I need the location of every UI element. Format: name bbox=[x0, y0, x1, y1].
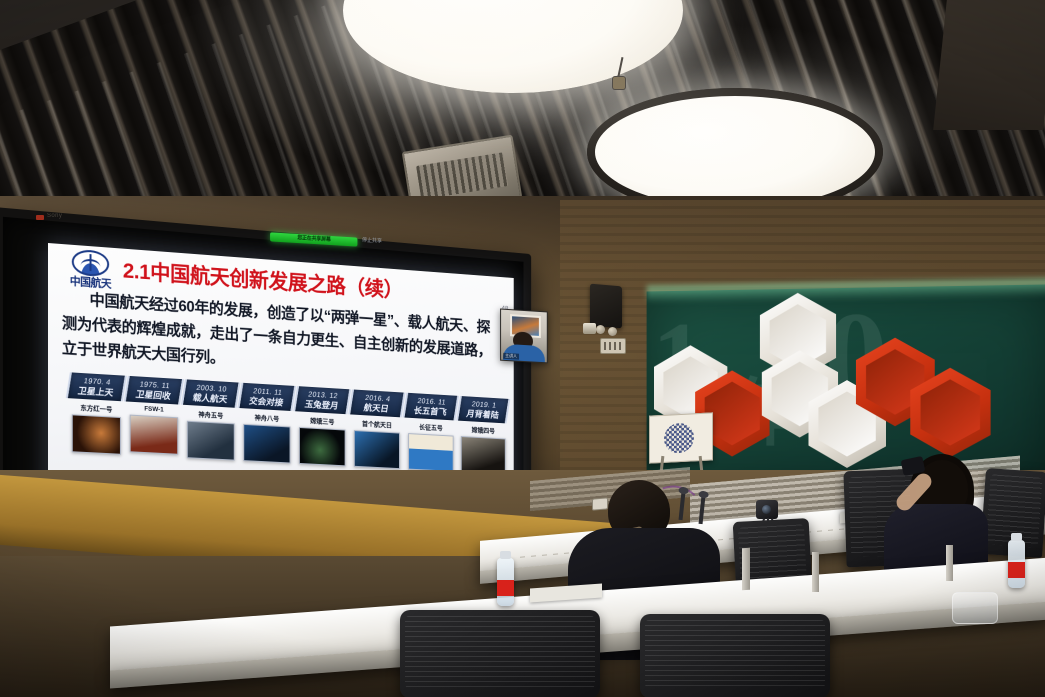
timeline-item: 1970. 4卫星上天 东方红一号 bbox=[68, 372, 125, 459]
timeline-item: 1975. 11卫星回收 FSW-1 bbox=[126, 376, 182, 462]
wall-outlet-plate[interactable] bbox=[600, 338, 626, 354]
timeline-name: 卫星上天 bbox=[68, 385, 123, 399]
timeline-name: 航天日 bbox=[350, 402, 401, 415]
stop-share-button[interactable]: 停止共享 bbox=[362, 236, 382, 244]
drinking-glass bbox=[952, 592, 998, 624]
desk-leg bbox=[946, 545, 953, 581]
timeline-item: 2016. 4航天日 首个航天日 bbox=[350, 389, 403, 473]
upper-right-wall bbox=[933, 0, 1045, 130]
bottle-cap bbox=[500, 551, 511, 559]
timeline-sub: 首个航天日 bbox=[350, 417, 403, 430]
timeline-sub: 长征五号 bbox=[405, 420, 458, 433]
camera-icon bbox=[756, 500, 778, 519]
office-chair bbox=[640, 614, 830, 697]
timeline-name: 月背着陆 bbox=[458, 408, 506, 421]
timeline-item: 2011. 11交会对接 神舟八号 bbox=[239, 383, 294, 468]
timeline-image bbox=[299, 427, 346, 466]
timeline-item: 2013. 12玉兔登月 嫦娥三号 bbox=[295, 386, 349, 470]
timeline-sub: 嫦娥四号 bbox=[458, 423, 508, 435]
timeline-sub: 东方红一号 bbox=[68, 401, 125, 414]
wall-speaker-icon bbox=[590, 284, 622, 329]
qr-poster bbox=[649, 412, 713, 463]
timeline-image bbox=[354, 430, 400, 469]
bottle-cap bbox=[1011, 533, 1022, 541]
qr-code-icon bbox=[664, 422, 694, 454]
timeline-image bbox=[408, 433, 453, 472]
display-brand-label: Sony bbox=[47, 213, 62, 219]
pip-name-label: 主讲人 bbox=[503, 353, 519, 360]
timeline-image bbox=[130, 415, 178, 455]
timeline-sub: 嫦娥三号 bbox=[295, 414, 349, 427]
bottle-label bbox=[497, 580, 514, 596]
timeline-image bbox=[461, 436, 506, 475]
timeline-item: 2016. 11长五首飞 长征五号 bbox=[405, 393, 458, 476]
timeline-item: 2019. 1月背着陆 嫦娥四号 bbox=[458, 396, 508, 479]
bottle-label bbox=[1008, 562, 1025, 578]
timeline-image bbox=[243, 424, 290, 464]
timeline-item: 2003. 10载人航天 神舟五号 bbox=[183, 379, 239, 465]
timeline-sub: 神舟八号 bbox=[239, 411, 294, 424]
office-chair bbox=[400, 610, 600, 697]
timeline-sub: FSW-1 bbox=[126, 404, 182, 414]
timeline-name: 交会对接 bbox=[240, 395, 293, 409]
timeline-image bbox=[187, 421, 235, 461]
timeline-name: 玉兔登月 bbox=[295, 399, 347, 413]
video-pip-tile[interactable]: 主讲人 bbox=[500, 308, 548, 363]
water-bottle bbox=[497, 558, 514, 606]
desk-leg bbox=[812, 552, 819, 592]
timeline-name: 载人航天 bbox=[183, 392, 236, 406]
casc-logo: 中国航天 bbox=[60, 248, 121, 290]
conference-room-photo: 1 0 年 Sony 中国航天 2.1中国航天创新发展之路（续） 48 中国航天… bbox=[0, 0, 1045, 697]
timeline-name: 长五首飞 bbox=[405, 405, 456, 418]
desk-leg bbox=[742, 548, 750, 591]
display-power-led-icon bbox=[36, 215, 44, 220]
timeline-sub: 神舟五号 bbox=[183, 408, 239, 421]
water-bottle bbox=[1008, 540, 1025, 588]
casc-logo-icon bbox=[72, 249, 109, 278]
slide-body-text: 中国航天经过60年的发展，创造了以“两弹一星”、载人航天、探 测为代表的辉煌成就… bbox=[62, 286, 505, 388]
slide-body-line-3: 立于世界航天大国行列。 bbox=[62, 340, 225, 367]
wall-knob[interactable] bbox=[608, 327, 617, 336]
timeline-image bbox=[72, 414, 121, 454]
wall-knob[interactable] bbox=[596, 325, 605, 334]
timeline-name: 卫星回收 bbox=[126, 389, 180, 403]
emergency-light-icon bbox=[583, 323, 596, 334]
